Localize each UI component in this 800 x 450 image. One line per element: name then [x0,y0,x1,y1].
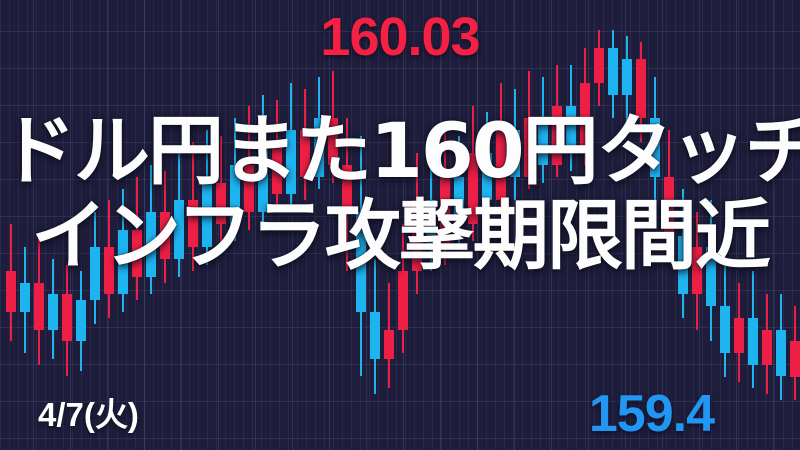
candle-body [370,312,380,359]
candle-body [776,330,786,377]
candle-body [762,330,772,365]
candle-body [720,306,730,353]
candle-body [748,318,758,365]
candle-body [384,330,394,359]
candle-body [48,294,58,329]
candle-body [62,294,72,341]
candle-body [734,318,744,353]
candle-body [34,283,44,330]
headline: ドル円また160円タッチ インフラ攻撃期限間近 [0,108,800,278]
headline-line-2: インフラ攻撃期限間近 [0,193,800,278]
high-price-label: 160.03 [0,6,800,68]
low-price-label: 159.4 [589,384,714,444]
headline-line-1: ドル円また160円タッチ [0,108,800,193]
candle-body [76,300,86,341]
candle-body [790,341,800,376]
candle-body [20,283,30,312]
date-label: 4/7(火) [38,388,139,436]
thumbnail-canvas: 160.03 ドル円また160円タッチ インフラ攻撃期限間近 4/7(火) 15… [0,0,800,450]
